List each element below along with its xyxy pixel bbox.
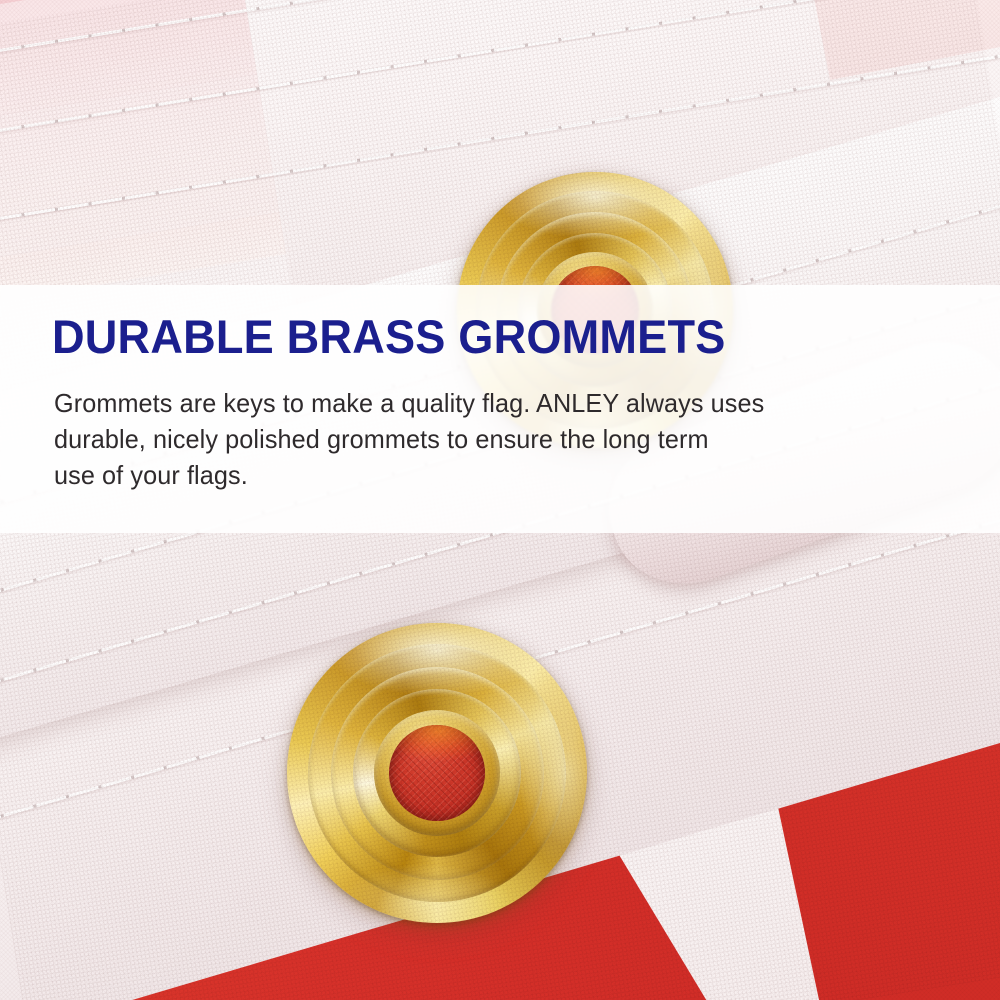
description-text: Grommets are keys to make a quality flag… xyxy=(54,385,879,493)
product-feature-image: DURABLE BRASS GROMMETS Grommets are keys… xyxy=(0,0,1000,1000)
grommet-bottom-hole-red-fabric xyxy=(389,725,485,821)
text-overlay-band: DURABLE BRASS GROMMETS Grommets are keys… xyxy=(0,285,1000,533)
page-title: DURABLE BRASS GROMMETS xyxy=(52,313,726,360)
description-line-1: Grommets are keys to make a quality flag… xyxy=(54,385,879,421)
grommet-bottom xyxy=(287,623,587,923)
description-line-2: durable, nicely polished grommets to ens… xyxy=(54,421,879,457)
description-line-3: use of your flags. xyxy=(54,457,879,493)
